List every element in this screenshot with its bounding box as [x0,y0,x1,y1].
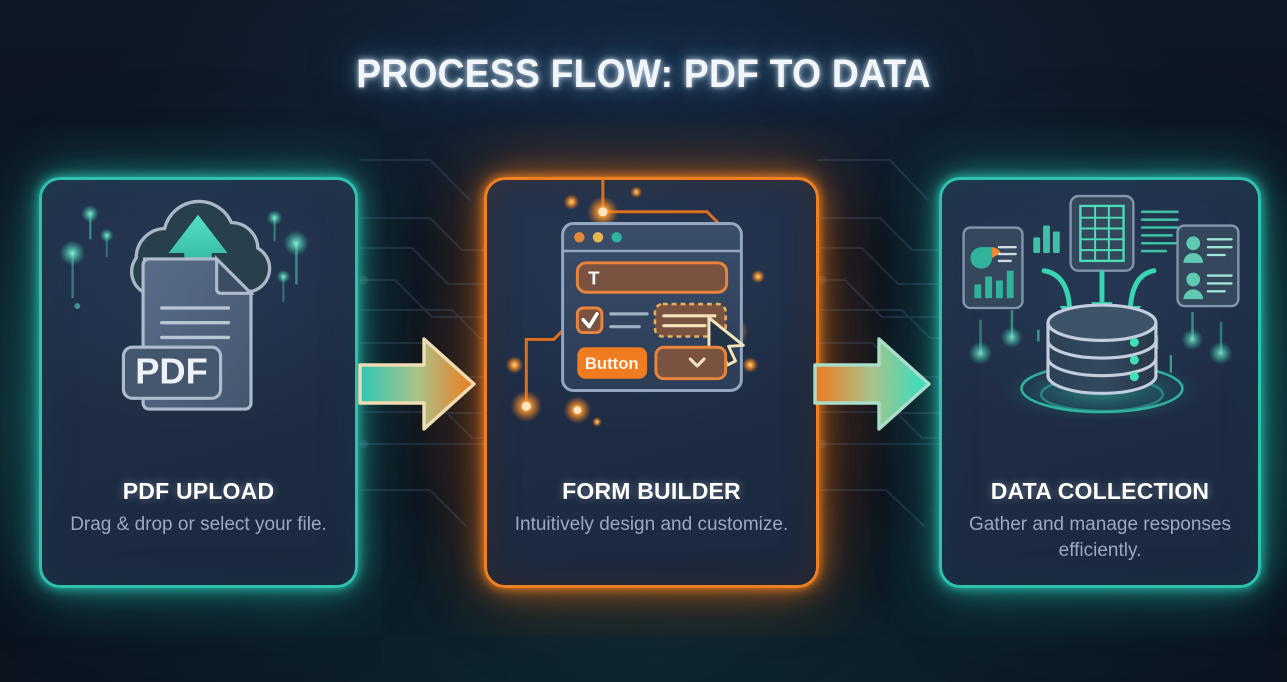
cloud-upload-pdf-icon: PDF [42,180,355,435]
database-status-leds [1130,338,1139,381]
spreadsheet-card-icon [1071,196,1134,271]
text-lines-icon [1142,212,1177,251]
form-submit-button[interactable]: Button [577,347,647,378]
window-dot-minimize [593,232,603,242]
pdf-badge-label: PDF [135,351,208,392]
form-checkbox[interactable] [577,308,602,333]
database-inflow-icon [942,180,1258,435]
database-cylinder [1048,305,1156,393]
form-dropdown[interactable] [656,347,726,378]
pdf-document-icon: PDF [123,259,251,409]
card-desc-pdf-upload: Drag & drop or select your file. [42,512,355,538]
flow-arrow-2 [813,331,933,437]
card-form-builder[interactable]: T [484,177,819,588]
browser-window-mockup: T [563,224,744,391]
text-input-label: T [588,267,600,288]
card-data-collection[interactable]: DATA COLLECTION Gather and manage respon… [939,177,1261,588]
form-builder-window-icon: T [487,180,816,435]
window-dot-maximize [611,232,621,242]
card-title-data-collection: DATA COLLECTION [942,478,1258,505]
form-button-label: Button [585,354,639,373]
form-text-input[interactable]: T [577,263,726,292]
infographic-canvas: PROCESS FLOW: PDF TO DATA [0,0,1287,682]
contacts-card-icon [1178,226,1239,306]
window-dot-close [574,232,584,242]
chart-card-icon [964,228,1023,308]
card-desc-form-builder: Intuitively design and customize. [487,512,816,538]
page-title: PROCESS FLOW: PDF TO DATA [45,52,1242,97]
flow-arrow-1 [358,331,478,437]
card-title-pdf-upload: PDF UPLOAD [42,478,355,505]
window-traffic-dots [574,232,622,242]
card-title-form-builder: FORM BUILDER [487,478,816,505]
bar-chart-icon [1033,226,1059,253]
card-desc-data-collection: Gather and manage responses efficiently. [942,512,1258,564]
card-pdf-upload[interactable]: PDF PDF UPLOAD Drag & drop or select you… [39,177,358,588]
